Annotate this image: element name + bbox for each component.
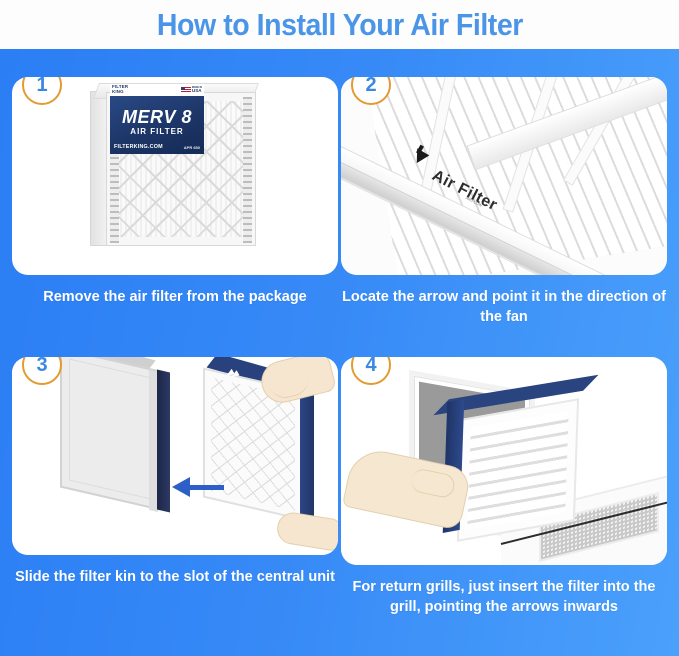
step-4-image-card: ▶▶ 4 [341, 357, 667, 565]
insert-arrow-shaft-icon [188, 485, 224, 490]
step-caption-1: Remove the air filter from the package [12, 288, 338, 308]
filter-product-label: FILTER KING MADE IN USA MER [110, 94, 204, 154]
step-card-2: Air Filter AIRFLOW 2 Locate the arrow an… [341, 77, 667, 327]
step-caption-4: For return grills, just insert the filte… [341, 578, 667, 617]
step-card-1: FILTER KING MADE IN USA MER [12, 77, 338, 308]
step-card-3: ▶▶ 3 Slide the filter kin to the slot of… [12, 357, 338, 588]
how-to-install-air-filter-infographic: How to Install Your Air Filter [0, 0, 679, 656]
step-caption-2: Locate the arrow and point it in the dir… [341, 288, 667, 327]
hand-bottom-illustration [275, 510, 338, 552]
filter-king-logo: FILTER KING [112, 85, 128, 94]
step-1-image-card: FILTER KING MADE IN USA MER [12, 77, 338, 275]
merv-rating-text: MERV 8 [110, 107, 204, 128]
filter-right-rail [243, 97, 252, 243]
label-footer-strip: FILTERKING.COM APR 650 [114, 144, 200, 150]
slide-filter-illustration: ▶▶ [12, 357, 338, 555]
step-3-image-card: ▶▶ 3 [12, 357, 338, 555]
website-text: FILTERKING.COM [114, 144, 163, 150]
label-header-strip: FILTER KING MADE IN USA [110, 84, 204, 96]
page-title: How to Install Your Air Filter [157, 7, 523, 43]
step-caption-3: Slide the filter kin to the slot of the … [12, 568, 338, 588]
step-card-4: ▶▶ 4 For return grills, just insert the … [341, 357, 667, 617]
made-in-usa-mark: MADE IN USA [181, 87, 202, 94]
merv-8-filter-photo: FILTER KING MADE IN USA MER [90, 83, 262, 253]
made-in-usa-text: MADE IN USA [192, 87, 202, 94]
return-grill-illustration: ▶▶ [341, 357, 667, 565]
country-text: USA [192, 88, 202, 93]
apr-rating-text: APR 650 [184, 145, 200, 150]
grill-door-face [457, 398, 579, 542]
title-bar: How to Install Your Air Filter [0, 0, 679, 49]
step-badge-1: 1 [22, 77, 62, 105]
central-unit-face [60, 357, 160, 511]
usa-flag-icon [181, 87, 191, 93]
filter-side-frame [300, 389, 314, 522]
filter-corner-photo: Air Filter AIRFLOW [341, 77, 667, 275]
brand-line-2: KING [112, 89, 124, 94]
central-unit-slot [157, 369, 170, 512]
insert-arrow-head-icon [172, 477, 190, 497]
steps-grid: FILTER KING MADE IN USA MER [0, 49, 679, 656]
air-filter-subtitle: AIR FILTER [110, 127, 204, 136]
step-2-image-card: Air Filter AIRFLOW 2 [341, 77, 667, 275]
